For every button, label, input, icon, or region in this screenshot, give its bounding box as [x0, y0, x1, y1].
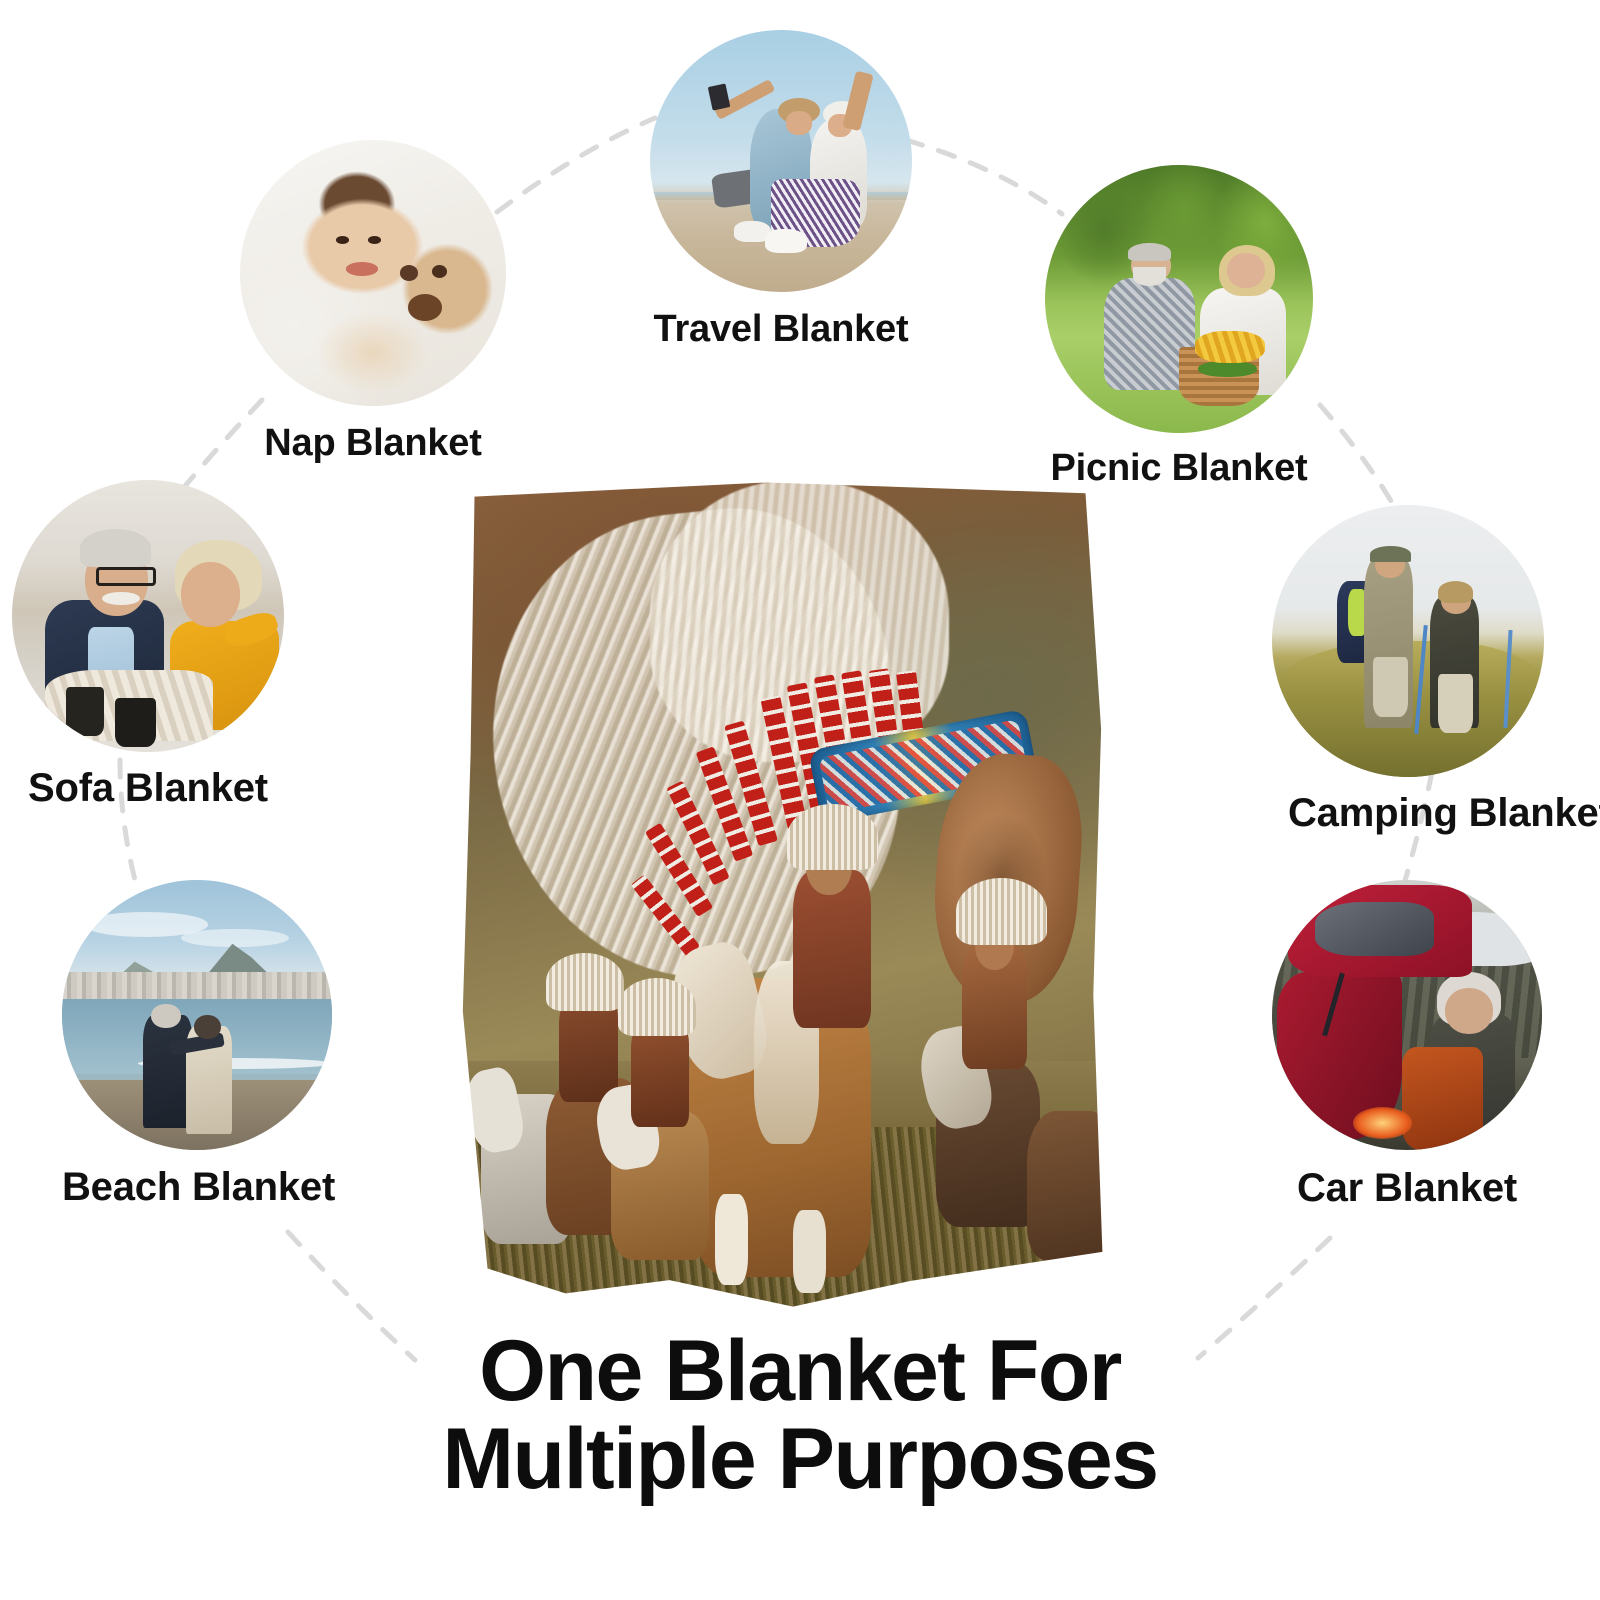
feature-beach[interactable]: Beach Blanket	[62, 880, 332, 1220]
feature-label-nap: Nap Blanket	[240, 422, 506, 465]
photo-car[interactable]	[1272, 880, 1542, 1150]
feature-car[interactable]: Car Blanket	[1272, 880, 1542, 1220]
connector-nap-travel	[497, 118, 655, 212]
feature-label-sofa: Sofa Blanket	[12, 766, 284, 811]
feature-label-car: Car Blanket	[1272, 1166, 1542, 1211]
blanket-artwork	[455, 480, 1105, 1310]
headline: One Blanket For Multiple Purposes	[0, 1328, 1600, 1503]
connector-picnic-camping	[1320, 405, 1402, 520]
feature-camping[interactable]: Camping Blanket	[1272, 505, 1544, 845]
feature-label-travel: Travel Blanket	[650, 308, 912, 351]
connector-travel-picnic	[906, 140, 1062, 214]
feature-travel[interactable]: Travel Blanket	[650, 30, 912, 360]
photo-beach[interactable]	[62, 880, 332, 1150]
headline-line-1: One Blanket For	[479, 1323, 1121, 1419]
product-blanket[interactable]	[455, 480, 1105, 1310]
infographic-canvas: Nap Blanket Travel Blanket Picnic Blanke…	[0, 0, 1600, 1600]
photo-travel[interactable]	[650, 30, 912, 292]
photo-camping[interactable]	[1272, 505, 1544, 777]
feature-sofa[interactable]: Sofa Blanket	[12, 480, 284, 820]
feature-nap[interactable]: Nap Blanket	[240, 140, 506, 470]
headline-line-2: Multiple Purposes	[0, 1416, 1600, 1504]
feature-label-picnic: Picnic Blanket	[1045, 447, 1313, 490]
feature-picnic[interactable]: Picnic Blanket	[1045, 165, 1313, 495]
feature-label-camping: Camping Blanket	[1288, 791, 1560, 836]
photo-picnic[interactable]	[1045, 165, 1313, 433]
feature-label-beach: Beach Blanket	[62, 1165, 332, 1210]
photo-nap[interactable]	[240, 140, 506, 406]
photo-sofa[interactable]	[12, 480, 284, 752]
